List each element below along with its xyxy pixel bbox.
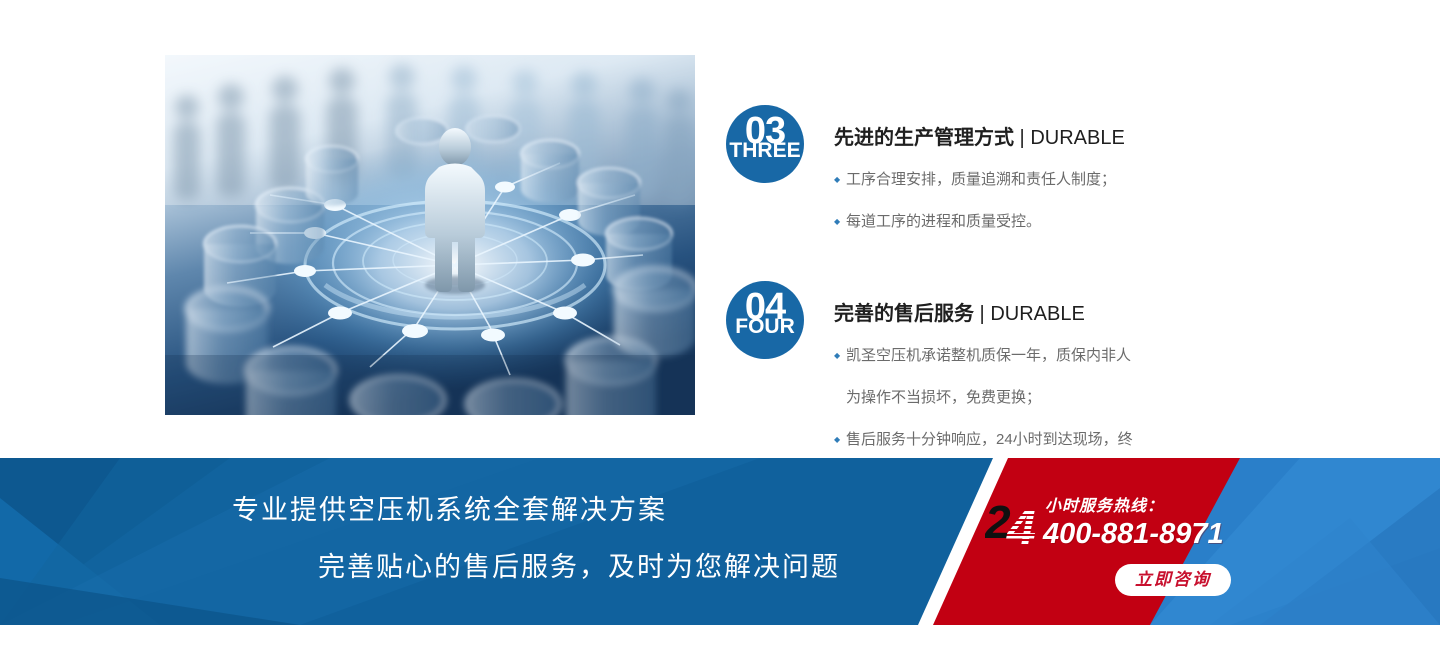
feature-bullet: 售后服务十分钟响应，24小时到达现场，终 bbox=[834, 426, 1244, 453]
feature-bullet-continuation: 为操作不当损坏，免费更换； bbox=[834, 384, 1244, 411]
svg-text:4: 4 bbox=[1006, 500, 1036, 552]
feature-title-cn: 完善的售后服务 bbox=[834, 303, 974, 325]
feature-bullet: 每道工序的进程和质量受控。 bbox=[834, 208, 1244, 235]
feature-title-en: DURABLE bbox=[990, 303, 1084, 325]
hotline-number: 400-881-8971 bbox=[1043, 516, 1224, 552]
feature-badge-04: 04 FOUR bbox=[726, 281, 804, 359]
slogan-line-2: 完善贴心的售后服务，及时为您解决问题 bbox=[318, 550, 840, 584]
banner-slogan: 专业提供空压机系统全套解决方案 完善贴心的售后服务，及时为您解决问题 bbox=[0, 458, 940, 625]
hotline-label: 小时服务热线： bbox=[1045, 497, 1164, 517]
feature-bullet: 工序合理安排，质量追溯和责任人制度； bbox=[834, 166, 1244, 193]
feature-title-en: DURABLE bbox=[1030, 127, 1124, 149]
feature-item-03: 03 THREE 先进的生产管理方式 | DURABLE 工序合理安排，质量追溯… bbox=[726, 105, 1244, 250]
feature-title: 完善的售后服务 | DURABLE bbox=[834, 301, 1244, 327]
feature-title-sep: | bbox=[974, 303, 990, 325]
badge-word: THREE bbox=[726, 140, 804, 161]
consult-now-button[interactable]: 立即咨询 bbox=[1115, 564, 1231, 596]
feature-title: 先进的生产管理方式 | DURABLE bbox=[834, 125, 1244, 151]
feature-title-sep: | bbox=[1014, 127, 1030, 149]
feature-badge-03: 03 THREE bbox=[726, 105, 804, 183]
hotline-block: 2 4 小时服务热线： 400-881-8971 立即咨询 bbox=[985, 496, 1255, 616]
network-concept-photo bbox=[165, 55, 695, 415]
feature-bullet: 凯圣空压机承诺整机质保一年，质保内非人 bbox=[834, 342, 1244, 369]
cta-banner: 专业提供空压机系统全套解决方案 完善贴心的售后服务，及时为您解决问题 2 4 小… bbox=[0, 458, 1440, 625]
badge-word: FOUR bbox=[726, 316, 804, 337]
feature-title-cn: 先进的生产管理方式 bbox=[834, 127, 1014, 149]
feature-body: 先进的生产管理方式 | DURABLE 工序合理安排，质量追溯和责任人制度； 每… bbox=[834, 105, 1244, 250]
features-section: 03 THREE 先进的生产管理方式 | DURABLE 工序合理安排，质量追溯… bbox=[0, 0, 1440, 458]
slogan-line-1: 专业提供空压机系统全套解决方案 bbox=[232, 493, 667, 527]
